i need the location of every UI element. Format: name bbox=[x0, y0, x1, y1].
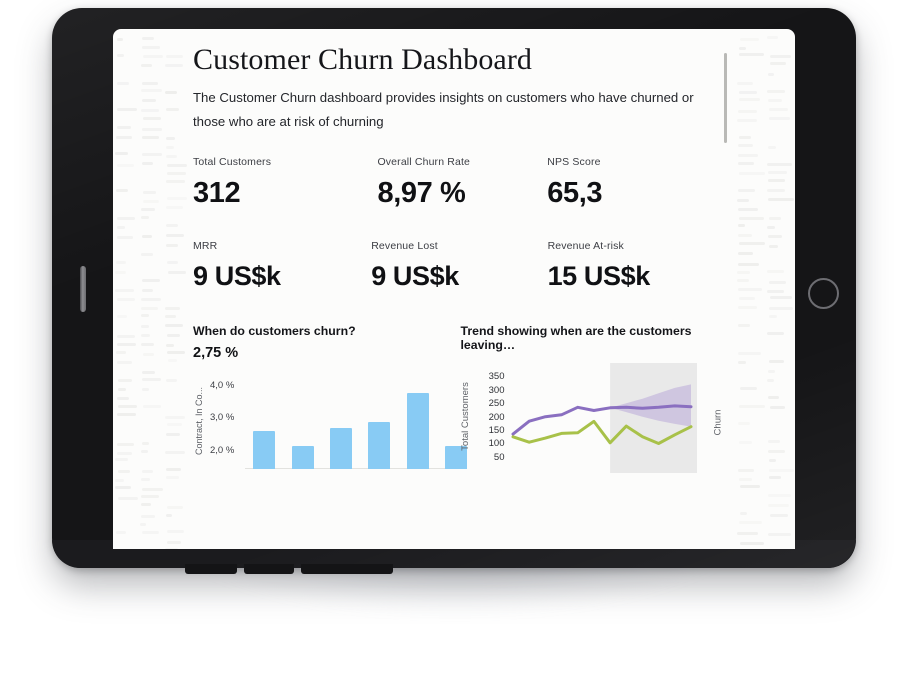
tablet-foot bbox=[185, 564, 237, 574]
home-button[interactable] bbox=[808, 278, 839, 309]
tablet-foot bbox=[244, 564, 294, 574]
trend-chart-y2-axis-title: Churn bbox=[711, 387, 725, 459]
dashboard-content: Customer Churn Dashboard The Customer Ch… bbox=[193, 43, 723, 473]
kpi-nps-score[interactable]: NPS Score 65,3 bbox=[547, 156, 723, 210]
kpi-total-customers[interactable]: Total Customers 312 bbox=[193, 156, 377, 210]
trend-chart-series bbox=[513, 363, 672, 473]
kpi-value: 312 bbox=[193, 177, 377, 210]
placeholder-text-column-left bbox=[113, 29, 188, 549]
volume-button[interactable] bbox=[80, 266, 86, 312]
kpi-value: 65,3 bbox=[547, 177, 723, 210]
bar-chart-bar[interactable] bbox=[292, 446, 314, 469]
trend-chart-plot: Total Customers Churn 350300250200150100… bbox=[461, 363, 724, 473]
bar-chart-y-tick-label: 4,0 % bbox=[210, 380, 234, 391]
bar-chart-plot: Contract, In Co... 4,0 %3,0 %2,0 % bbox=[193, 377, 456, 469]
chart-when-do-customers-churn[interactable]: When do customers churn? 2,75 % Contract… bbox=[193, 324, 456, 473]
charts-row: When do customers churn? 2,75 % Contract… bbox=[193, 324, 723, 473]
kpi-row-secondary: MRR 9 US$k Revenue Lost 9 US$k Revenue A… bbox=[193, 240, 723, 292]
tablet-foot bbox=[301, 564, 393, 574]
chart-title: Trend showing when are the customers lea… bbox=[461, 324, 724, 352]
bar-chart-y-axis-title: Contract, In Co... bbox=[192, 373, 206, 469]
kpi-value: 9 US$k bbox=[371, 261, 547, 292]
chart-title: When do customers churn? bbox=[193, 324, 456, 338]
trend-chart-y-axis-title-text: Total Customers bbox=[460, 382, 471, 451]
kpi-value: 15 US$k bbox=[548, 261, 723, 292]
vertical-scrollbar[interactable] bbox=[724, 53, 727, 143]
bar-chart-bar[interactable] bbox=[368, 422, 390, 469]
kpi-label: Revenue At-risk bbox=[548, 240, 723, 252]
kpi-value: 8,97 % bbox=[377, 177, 547, 210]
kpi-label: Overall Churn Rate bbox=[377, 156, 547, 168]
trend-chart-svg bbox=[513, 363, 699, 473]
bar-chart-y-axis-title-text: Contract, In Co... bbox=[194, 387, 204, 455]
page-subtitle: The Customer Churn dashboard provides in… bbox=[193, 86, 723, 134]
kpi-label: Total Customers bbox=[193, 156, 377, 168]
kpi-label: MRR bbox=[193, 240, 371, 252]
kpi-label: Revenue Lost bbox=[371, 240, 547, 252]
placeholder-text-column-right bbox=[735, 29, 795, 549]
bar-chart-y-tick-label: 3,0 % bbox=[210, 412, 234, 423]
trend-chart-y-tick-label: 350 bbox=[475, 371, 505, 382]
trend-chart-y-tick-label: 300 bbox=[475, 385, 505, 396]
tablet-screen: Customer Churn Dashboard The Customer Ch… bbox=[113, 29, 795, 549]
page-title: Customer Churn Dashboard bbox=[193, 43, 723, 76]
kpi-row-primary: Total Customers 312 Overall Churn Rate 8… bbox=[193, 156, 723, 210]
chart-trend-customers-leaving[interactable]: Trend showing when are the customers lea… bbox=[461, 324, 724, 473]
trend-chart-y2-axis-title-text: Churn bbox=[713, 410, 724, 436]
dashboard-page: Customer Churn Dashboard The Customer Ch… bbox=[188, 29, 735, 549]
trend-chart-y-axis-title: Total Customers bbox=[459, 367, 473, 467]
trend-chart-y-tick-label: 100 bbox=[475, 438, 505, 449]
bar-chart-y-tick-label: 2,0 % bbox=[210, 445, 234, 456]
bar-chart-bar[interactable] bbox=[253, 431, 275, 468]
kpi-overall-churn-rate[interactable]: Overall Churn Rate 8,97 % bbox=[377, 156, 547, 210]
trend-chart-y-tick-label: 200 bbox=[475, 412, 505, 423]
tablet-device: Customer Churn Dashboard The Customer Ch… bbox=[52, 8, 856, 568]
kpi-label: NPS Score bbox=[547, 156, 723, 168]
trend-chart-y-tick-label: 50 bbox=[475, 452, 505, 463]
trend-chart-y-tick-label: 150 bbox=[475, 425, 505, 436]
chart-subvalue: 2,75 % bbox=[193, 345, 456, 361]
kpi-mrr[interactable]: MRR 9 US$k bbox=[193, 240, 371, 292]
bar-chart-bar[interactable] bbox=[407, 393, 429, 469]
kpi-value: 9 US$k bbox=[193, 261, 371, 292]
bar-chart-bars bbox=[245, 377, 456, 469]
kpi-revenue-lost[interactable]: Revenue Lost 9 US$k bbox=[371, 240, 547, 292]
bar-chart-bar[interactable] bbox=[330, 428, 352, 468]
kpi-revenue-at-risk[interactable]: Revenue At-risk 15 US$k bbox=[548, 240, 723, 292]
trend-chart-y-tick-label: 250 bbox=[475, 398, 505, 409]
